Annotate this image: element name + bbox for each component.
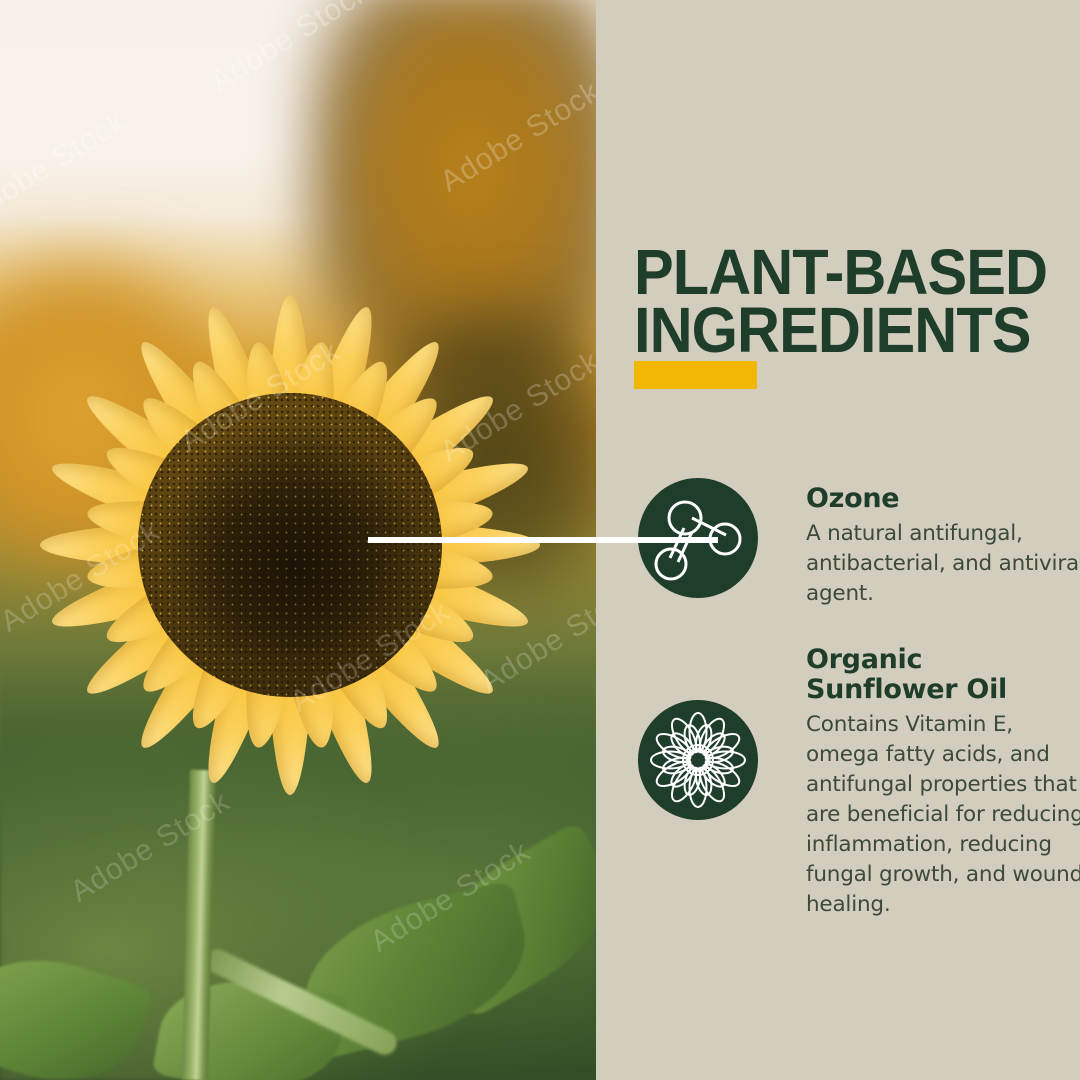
feature-sunflower-oil-title-line-1: Organic (806, 645, 1080, 675)
feature-ozone-text: Ozone A natural antifungal, antibacteria… (806, 484, 1080, 609)
feature-sunflower-oil-text: Organic Sunflower Oil Contains Vitamin E… (806, 645, 1080, 920)
feature-sunflower-oil-description: Contains Vitamin E, omega fatty acids, a… (806, 710, 1080, 920)
title-line-2: INGREDIENTS (634, 301, 1053, 359)
feature-sunflower-oil-title: Organic Sunflower Oil (806, 645, 1080, 705)
sunflower-disc (138, 393, 442, 697)
title-line-1: PLANT-BASED (634, 243, 1053, 301)
feature-ozone-description: A natural antifungal, antibacterial, and… (806, 519, 1080, 609)
page-title: PLANT-BASED INGREDIENTS (634, 243, 1053, 359)
feature-ozone-title-line-1: Ozone (806, 484, 1080, 514)
connector-line (368, 537, 718, 543)
sunflower-icon (638, 700, 758, 820)
accent-bar (634, 361, 757, 389)
ingredients-infographic: Adobe Stock Adobe Stock Adobe Stock Adob… (0, 0, 1080, 1080)
disc-shadow (138, 393, 442, 697)
feature-sunflower-oil-title-line-2: Sunflower Oil (806, 675, 1080, 705)
feature-ozone-title: Ozone (806, 484, 1080, 514)
